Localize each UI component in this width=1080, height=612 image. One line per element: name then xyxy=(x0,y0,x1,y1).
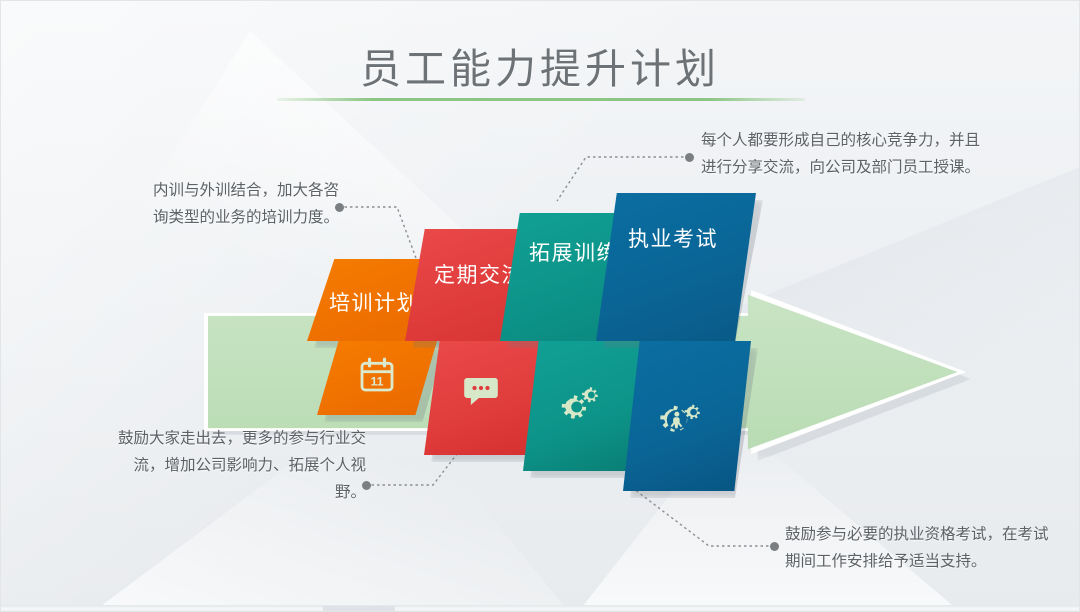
calendar-icon: 11 xyxy=(357,355,397,395)
note-top-left: 内训与外训结合，加大各咨 询类型的业务的培训力度。 xyxy=(107,177,339,231)
slide-canvas: 员工能力提升计划 培训计划 11 xyxy=(0,0,1080,612)
connector-dot-bottom-right xyxy=(770,542,779,551)
step-4-label: 执业考试 xyxy=(628,223,718,253)
slide-bottom-edge xyxy=(1,605,1079,611)
title-underline xyxy=(277,98,805,101)
step-1-icon-card[interactable]: 11 xyxy=(317,341,437,415)
step-4-top-card[interactable]: 执业考试 xyxy=(596,193,756,341)
note-bottom-left: 鼓励大家走出去，更多的参与行业交 流，增加公司影响力、拓展个人视 野。 xyxy=(81,425,366,506)
person-gear-icon xyxy=(649,403,701,449)
step-4-icon-card[interactable] xyxy=(623,341,751,491)
gears-icon xyxy=(551,383,601,427)
page-title: 员工能力提升计划 xyxy=(1,35,1079,95)
step-4-top-shape xyxy=(596,193,756,341)
title-container: 员工能力提升计划 xyxy=(1,35,1079,95)
note-bottom-right: 鼓励参与必要的执业资格考试，在考试 期间工作安排给予适当支持。 xyxy=(785,521,1065,575)
note-top-right: 每个人都要形成自己的核心竞争力，并且 进行分享交流，向公司及部门员工授课。 xyxy=(701,127,1021,181)
calendar-icon-day: 11 xyxy=(370,374,383,388)
slide-bottom-tab xyxy=(323,606,395,611)
connector-dot-top-right xyxy=(685,153,694,162)
chat-bubble-icon xyxy=(460,371,502,413)
